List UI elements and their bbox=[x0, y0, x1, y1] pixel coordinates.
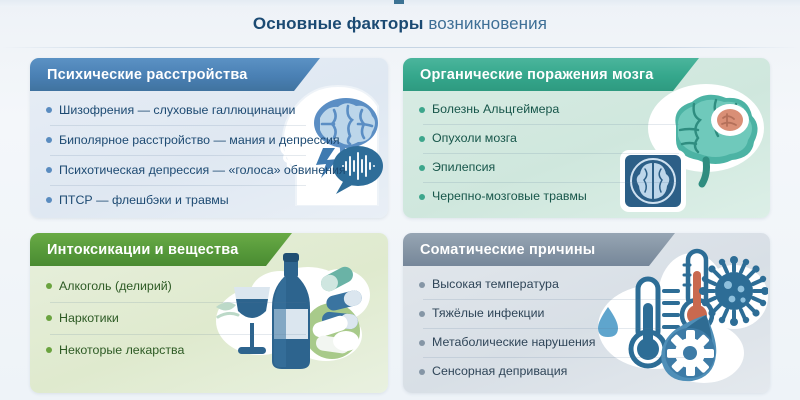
bullet-dot-icon bbox=[46, 347, 52, 353]
list-item: ПТСР — флешбэки и травмы bbox=[46, 185, 306, 215]
page-title: Основные факторы возникновения bbox=[0, 14, 800, 34]
card-intoxication-substances: Интоксикации и вещества bbox=[30, 233, 388, 393]
bullet-dot-icon bbox=[419, 107, 425, 113]
bullet-dot-icon bbox=[46, 283, 52, 289]
list-item-label: Алкоголь (делирий) bbox=[59, 280, 172, 292]
card-header-intoxication-substances: Интоксикации и вещества bbox=[30, 233, 292, 266]
list-intoxication-substances: Алкоголь (делирий) Наркотики Некоторые л… bbox=[46, 270, 306, 366]
list-item: Болезнь Альцгеймера bbox=[419, 95, 679, 124]
list-item-label: Шизофрения — слуховые галлюцинации bbox=[59, 104, 295, 116]
list-item-label: Психотическая депрессия — «голоса» обвин… bbox=[59, 164, 346, 176]
list-item-label: Метаболические нарушения bbox=[432, 336, 595, 348]
list-item: Сенсорная депривация bbox=[419, 357, 687, 386]
list-item-label: Черепно-мозговые травмы bbox=[432, 190, 587, 202]
list-item: Биполярное расстройство — мания и депрес… bbox=[46, 125, 306, 155]
page-title-light: возникновения bbox=[428, 14, 547, 33]
bullet-dot-icon bbox=[419, 369, 425, 375]
list-item: Опухоли мозга bbox=[419, 124, 679, 153]
page-title-strong: Основные факторы bbox=[253, 14, 424, 33]
list-item: Шизофрения — слуховые галлюцинации bbox=[46, 95, 306, 125]
list-item: Алкоголь (делирий) bbox=[46, 270, 306, 302]
bullet-dot-icon bbox=[419, 340, 425, 346]
list-item: Метаболические нарушения bbox=[419, 328, 687, 357]
bullet-dot-icon bbox=[419, 165, 425, 171]
list-item-label: Опухоли мозга bbox=[432, 132, 517, 144]
list-item: Эпилепсия bbox=[419, 153, 679, 182]
list-item-label: Наркотики bbox=[59, 312, 119, 324]
list-item: Черепно-мозговые травмы bbox=[419, 182, 679, 211]
list-somatic-causes: Высокая температура Тяжёлые инфекции Мет… bbox=[419, 270, 687, 386]
list-item: Некоторые лекарства bbox=[46, 334, 306, 366]
list-item: Тяжёлые инфекции bbox=[419, 299, 687, 328]
card-header-somatic-causes: Соматические причины bbox=[403, 233, 675, 266]
title-divider bbox=[0, 47, 800, 48]
bullet-dot-icon bbox=[419, 194, 425, 200]
list-item-label: Тяжёлые инфекции bbox=[432, 307, 544, 319]
bullet-dot-icon bbox=[46, 197, 52, 203]
bullet-dot-icon bbox=[46, 137, 52, 143]
list-item-label: Эпилепсия bbox=[432, 161, 495, 173]
list-mental-disorders: Шизофрения — слуховые галлюцинации Бипол… bbox=[46, 95, 306, 215]
list-item-label: Биполярное расстройство — мания и депрес… bbox=[59, 134, 340, 146]
card-header-mental-disorders: Психические расстройства bbox=[30, 58, 320, 91]
list-item-label: Некоторые лекарства bbox=[59, 344, 184, 356]
bullet-dot-icon bbox=[419, 136, 425, 142]
bullet-dot-icon bbox=[46, 167, 52, 173]
list-organic-brain-damage: Болезнь Альцгеймера Опухоли мозга Эпилеп… bbox=[419, 95, 679, 211]
list-item-label: Болезнь Альцгеймера bbox=[432, 103, 559, 115]
card-organic-brain-damage: Органические поражения мозга bbox=[403, 58, 770, 218]
bullet-dot-icon bbox=[419, 282, 425, 288]
list-item-label: Сенсорная депривация bbox=[432, 365, 567, 377]
card-somatic-causes: Соматические причины bbox=[403, 233, 770, 393]
bullet-dot-icon bbox=[46, 107, 52, 113]
card-mental-disorders: Психические расстройства bbox=[30, 58, 388, 218]
list-item: Высокая температура bbox=[419, 270, 687, 299]
top-cutoff-strip bbox=[0, 0, 800, 7]
list-item: Наркотики bbox=[46, 302, 306, 334]
bullet-dot-icon bbox=[46, 315, 52, 321]
bullet-dot-icon bbox=[419, 311, 425, 317]
card-header-organic-brain-damage: Органические поражения мозга bbox=[403, 58, 699, 91]
list-item-label: ПТСР — флешбэки и травмы bbox=[59, 194, 229, 206]
top-cutoff-nub bbox=[394, 0, 404, 4]
list-item: Психотическая депрессия — «голоса» обвин… bbox=[46, 155, 306, 185]
list-item-label: Высокая температура bbox=[432, 278, 559, 290]
